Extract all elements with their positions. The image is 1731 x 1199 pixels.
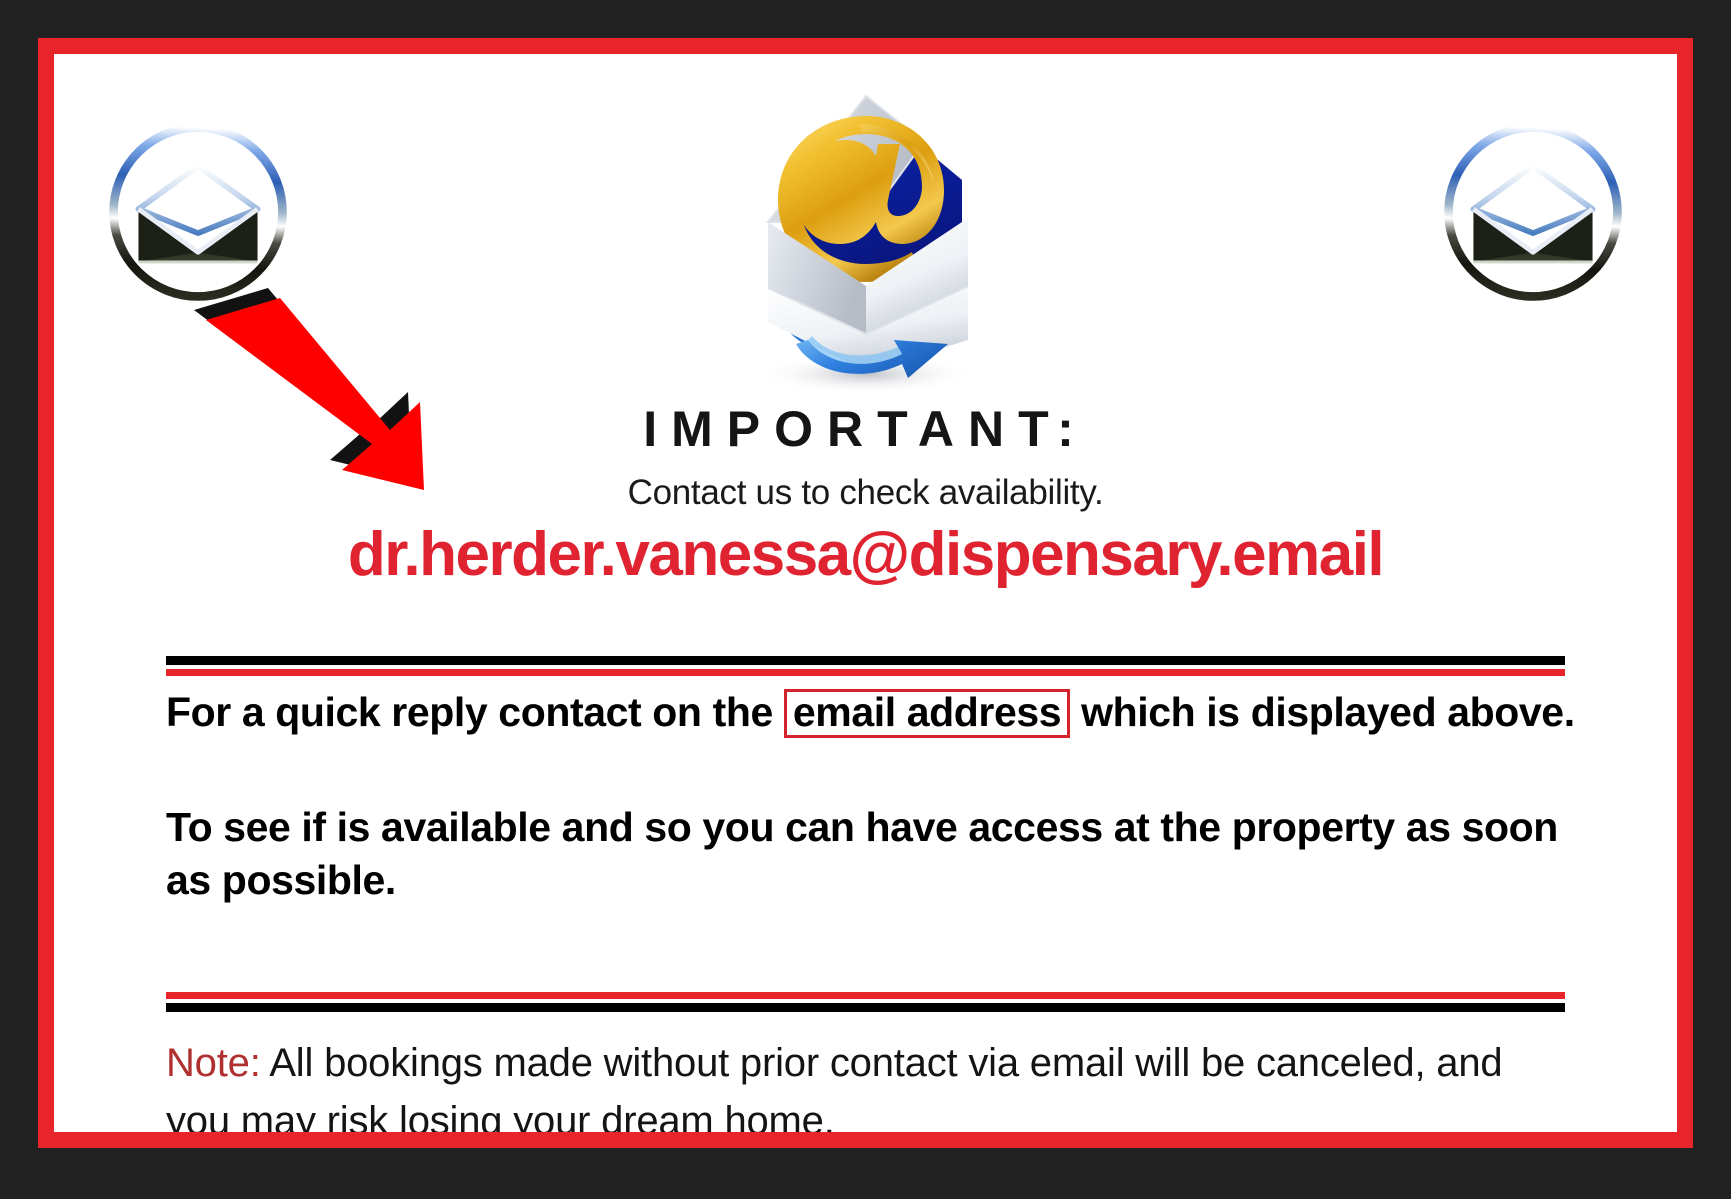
poster-root: IMPORTANT: Contact us to check availabil… — [0, 0, 1731, 1199]
paragraph-two: To see if is available and so you can ha… — [166, 801, 1577, 907]
headline-block: IMPORTANT: Contact us to check availabil… — [54, 402, 1677, 590]
envelope-circle-icon — [1437, 116, 1629, 308]
divider-top — [166, 656, 1565, 676]
paragraph-one-after: which is displayed above. — [1070, 689, 1575, 735]
note-label: Note: — [166, 1041, 261, 1085]
divider-bar-red — [166, 992, 1565, 999]
red-frame: IMPORTANT: Contact us to check availabil… — [38, 38, 1693, 1148]
email-address-highlight: email address — [784, 689, 1070, 738]
white-card: IMPORTANT: Contact us to check availabil… — [54, 54, 1677, 1132]
divider-bar-red — [166, 669, 1565, 676]
at-sign-envelope-icon — [716, 72, 1016, 397]
divider-bar-black — [166, 1003, 1565, 1012]
note-block: Note: All bookings made without prior co… — [166, 1034, 1577, 1132]
email-address[interactable]: dr.herder.vanessa@dispensary.email — [54, 519, 1677, 590]
paragraph-one: For a quick reply contact on the email a… — [166, 686, 1577, 739]
subtitle: Contact us to check availability. — [54, 473, 1677, 513]
page-title: IMPORTANT: — [54, 402, 1677, 457]
body-block: For a quick reply contact on the email a… — [166, 686, 1577, 907]
paragraph-one-before: For a quick reply contact on the — [166, 689, 784, 735]
divider-bar-black — [166, 656, 1565, 665]
envelope-circle-icon — [102, 116, 294, 308]
divider-bottom — [166, 992, 1565, 1012]
note-text: All bookings made without prior contact … — [166, 1041, 1502, 1132]
